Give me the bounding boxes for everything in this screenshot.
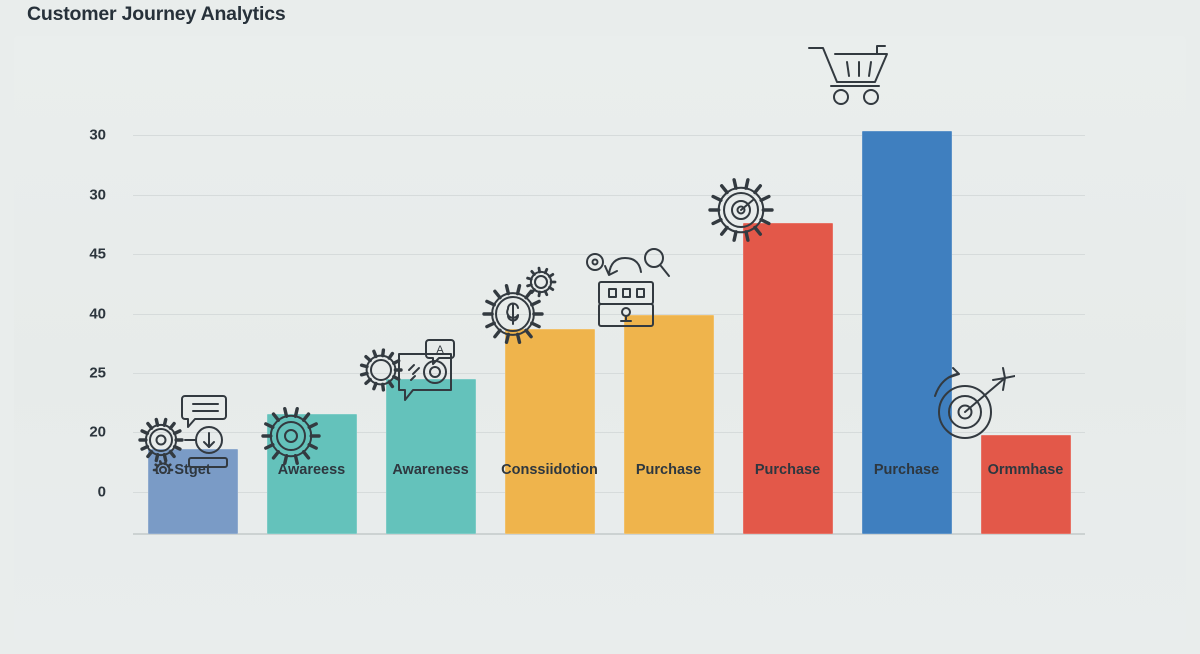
bar-rect: [505, 329, 595, 534]
x-axis-tick-label: Ormmhase: [988, 462, 1064, 478]
y-axis-tick-label: 25: [66, 364, 106, 381]
x-axis-tick-label: Purchase: [636, 462, 701, 478]
plot-area: [133, 110, 1085, 534]
x-axis-tick-label: Conssiidotion: [501, 462, 598, 478]
chart-page: Customer Journey Analytics 3030454025200…: [0, 0, 1200, 654]
y-axis-tick-label: 20: [66, 424, 106, 441]
x-axis-tick-label: Awareess: [278, 462, 345, 478]
bar-rect: [981, 435, 1071, 534]
bar[interactable]: [743, 223, 833, 534]
x-axis-tick-label: Stget: [174, 462, 210, 478]
x-axis-tick-label: Purchase: [755, 462, 820, 478]
bar-rect: [386, 379, 476, 535]
y-axis-tick-label: 30: [66, 186, 106, 203]
bar[interactable]: [981, 435, 1071, 534]
bar[interactable]: [624, 315, 714, 534]
bar[interactable]: [386, 379, 476, 535]
y-axis-tick-label: 45: [66, 246, 106, 263]
y-axis-tick-label: 40: [66, 305, 106, 322]
bar-rect: [743, 223, 833, 534]
bar-rect: [624, 315, 714, 534]
y-axis-tick-label: 30: [66, 127, 106, 144]
x-axis-tick-label: Purchase: [874, 462, 939, 478]
x-axis-tick-label: Awareness: [392, 462, 468, 478]
y-axis-tick-label: 0: [66, 483, 106, 500]
bar[interactable]: [505, 329, 595, 534]
page-title: Customer Journey Analytics: [27, 3, 286, 26]
